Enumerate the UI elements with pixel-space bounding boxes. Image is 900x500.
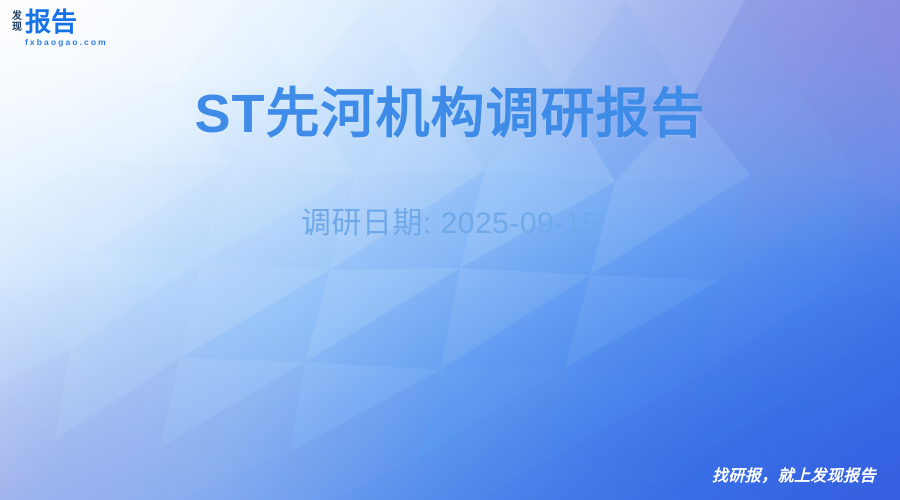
- logo-wordmark: 报告: [25, 9, 108, 36]
- brand-slogan: 找研报，就上发现报告: [712, 467, 876, 487]
- low-poly-background: [0, 0, 900, 500]
- report-cover: 发 现 报告 fxbaogao.com ST先河机构调研报告 调研日期: 202…: [0, 0, 900, 500]
- logo-text-block: 报告 fxbaogao.com: [25, 9, 108, 48]
- cover-headline-block: ST先河机构调研报告 调研日期: 2025-09-15: [0, 78, 900, 244]
- logo-domain: fxbaogao.com: [25, 37, 108, 48]
- cover-subtitle: 调研日期: 2025-09-15: [0, 204, 900, 244]
- page-title: ST先河机构调研报告: [0, 78, 900, 150]
- brand-logo[interactable]: 发 现 报告 fxbaogao.com: [12, 9, 108, 48]
- logo-mark-icon: 发 现: [12, 9, 22, 33]
- logo-mark-line-1: 发: [12, 11, 22, 22]
- logo-mark-line-2: 现: [12, 22, 22, 33]
